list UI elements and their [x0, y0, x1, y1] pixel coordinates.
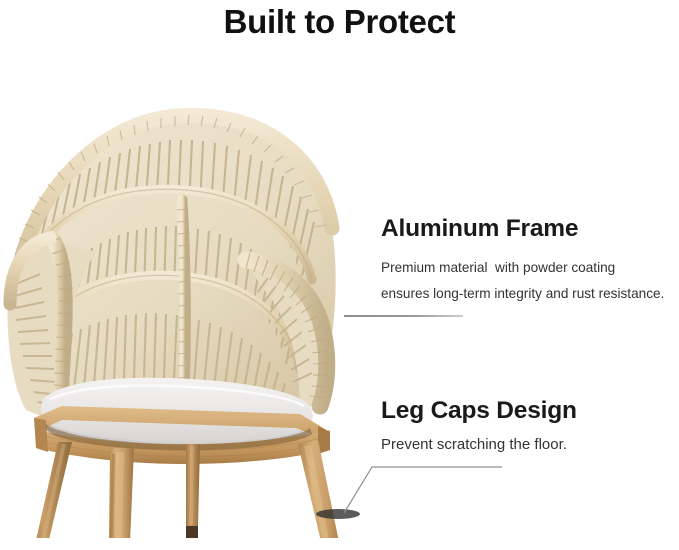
leg-cap	[186, 526, 198, 538]
callout-line-aluminum-1: Premium material with powder coating	[381, 255, 664, 281]
front-left-leg	[107, 448, 134, 538]
page-title: Built to Protect	[0, 2, 679, 42]
callout-leg-caps-design: Leg Caps Design Prevent scratching the f…	[381, 396, 577, 457]
rear-right-leg	[186, 444, 200, 538]
product-illustration-chair	[0, 88, 365, 538]
callout-heading-aluminum-frame: Aluminum Frame	[381, 214, 664, 244]
callout-aluminum-frame: Aluminum Frame Premium material with pow…	[381, 214, 664, 307]
leader-line-aluminum-frame	[344, 315, 463, 317]
rear-left-leg	[26, 442, 72, 538]
leader-line-leg-caps	[330, 455, 505, 525]
callout-line-leg-caps-1: Prevent scratching the floor.	[381, 433, 577, 457]
callout-line-aluminum-2: ensures long-term integrity and rust res…	[381, 281, 664, 307]
callout-heading-leg-caps: Leg Caps Design	[381, 396, 577, 426]
